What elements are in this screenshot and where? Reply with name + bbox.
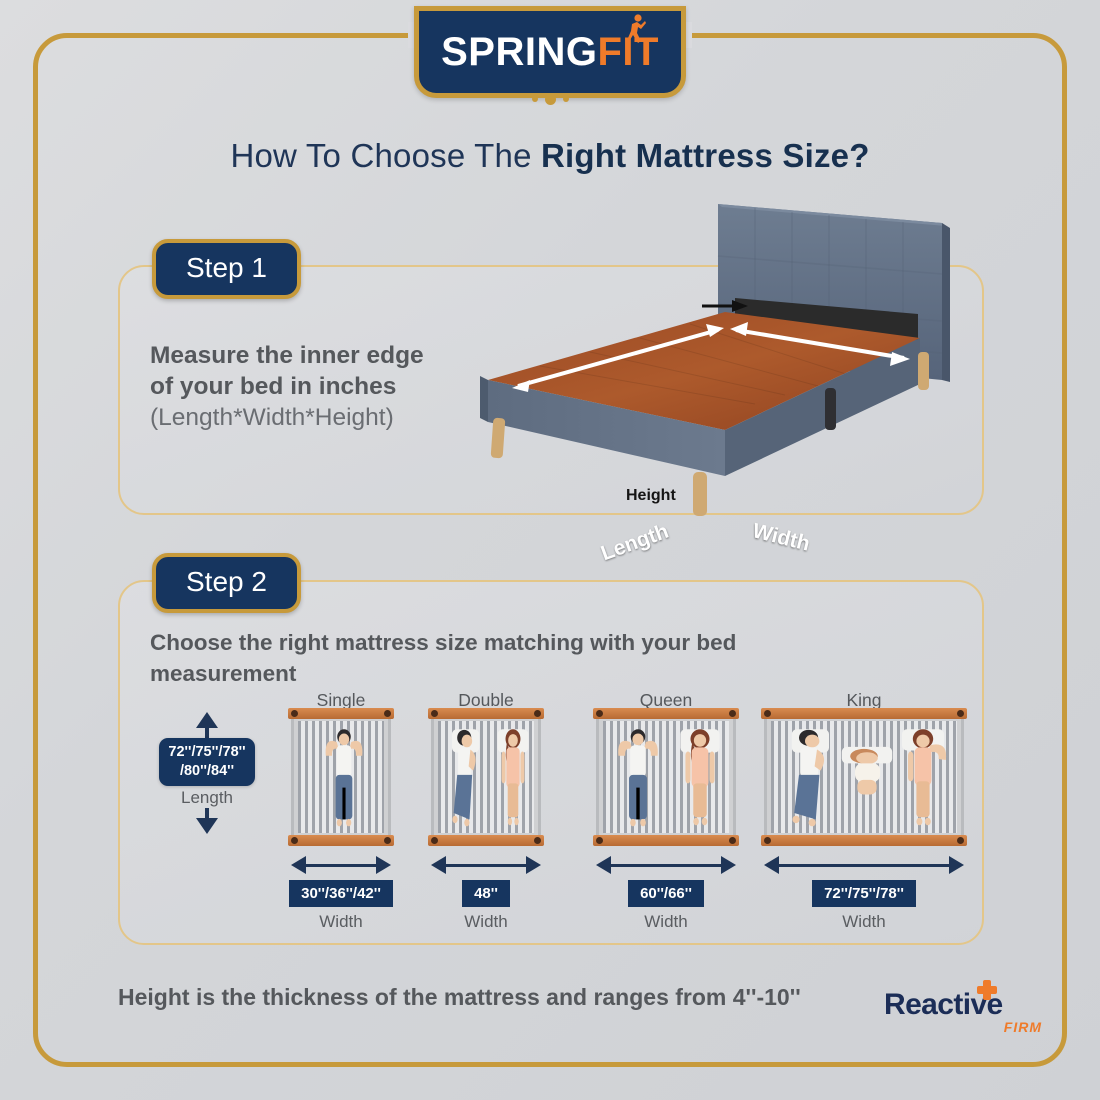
mattress-rail-top [593, 708, 739, 719]
arrow-left-icon [764, 856, 779, 874]
sleeper-figure [672, 724, 728, 835]
arrow-right-icon [526, 856, 541, 874]
arrow-stem [306, 864, 376, 867]
page-title: How To Choose The Right Mattress Size? [0, 137, 1100, 175]
mattress-rail-top [428, 708, 544, 719]
mattress-rail-bottom [593, 835, 739, 846]
reactive-word: Reactive [884, 990, 1044, 1020]
mattress-illustration [431, 717, 541, 837]
sleeper-figure [837, 739, 897, 810]
mattress-illustration [291, 717, 391, 837]
sleeper-figure [444, 724, 488, 835]
arrow-right-icon [949, 856, 964, 874]
step2-line1: Choose the right mattress size matching … [150, 627, 870, 658]
brand-logo-text: SPRING FIT [441, 30, 659, 75]
arrow-stem [779, 864, 949, 867]
arrow-right-icon [721, 856, 736, 874]
mattress-illustration [764, 717, 964, 837]
arrow-stem-top [205, 728, 209, 738]
sleeper-figure [781, 724, 841, 835]
width-arrow [596, 856, 736, 874]
width-arrow [764, 856, 964, 874]
width-value-badge: 30''/36''/42'' [289, 880, 393, 907]
step1-line3: (Length*Width*Height) [150, 402, 480, 433]
bed-svg [480, 190, 980, 540]
mattress-column-double: Double [431, 690, 541, 837]
bed-label-height: Height [626, 487, 676, 505]
step2-instruction: Choose the right mattress size matching … [150, 627, 870, 689]
width-arrow [431, 856, 541, 874]
mattress-column-queen: Queen [596, 690, 736, 837]
running-person-icon [627, 14, 646, 44]
arrow-up-icon [196, 712, 218, 728]
width-indicator-double: 48''Width [431, 856, 541, 932]
mattress-column-king: King [764, 690, 964, 837]
infographic-page: SPRING FIT How To Choose The Right Mattr… [0, 0, 1100, 1100]
mattress-rail-top [288, 708, 394, 719]
width-indicator-queen: 60''/66''Width [596, 856, 736, 932]
sleeper-figure [893, 724, 953, 835]
width-value-badge: 48'' [462, 880, 510, 907]
width-indicator-king: 72''/75''/78''Width [764, 856, 964, 932]
logo-fit-word: FIT [597, 30, 658, 75]
width-value-badge: 60''/66'' [628, 880, 704, 907]
width-indicator-single: 30''/36''/42''Width [291, 856, 391, 932]
step1-line2: of your bed in inches [150, 371, 480, 402]
step1-instruction: Measure the inner edge of your bed in in… [150, 340, 480, 433]
mattress-illustration [596, 717, 736, 837]
sleeper-figure [318, 724, 370, 835]
arrow-right-icon [376, 856, 391, 874]
decorative-dots [486, 92, 614, 106]
width-value-badge: 72''/75''/78'' [812, 880, 916, 907]
mattress-column-single: Single [291, 690, 391, 837]
width-label: Width [842, 912, 885, 932]
logo-spring-word: SPRING [441, 30, 597, 75]
arrow-stem [611, 864, 721, 867]
width-label: Width [464, 912, 507, 932]
sleeper-figure [610, 724, 666, 835]
page-title-bold: Right Mattress Size? [541, 137, 870, 174]
page-title-light: How To Choose The [230, 137, 541, 174]
width-arrow [291, 856, 391, 874]
mattress-rail-bottom [761, 835, 967, 846]
step2-badge: Step 2 [152, 553, 301, 613]
arrow-down-icon [196, 818, 218, 834]
arrow-left-icon [431, 856, 446, 874]
width-label: Width [319, 912, 362, 932]
reactive-firm-logo: Reactive FIRM [884, 990, 1044, 1042]
firm-word: FIRM [1004, 1019, 1042, 1035]
arrow-stem-bottom [205, 808, 209, 818]
step1-badge: Step 1 [152, 239, 301, 299]
mattress-rail-bottom [288, 835, 394, 846]
arrow-stem [446, 864, 526, 867]
length-value-badge: 72''/75''/78'' /80''/84'' [159, 738, 254, 786]
sleeper-figure [491, 724, 535, 835]
step1-line1: Measure the inner edge [150, 340, 480, 371]
brand-logo-box: SPRING FIT [414, 6, 686, 98]
bed-illustration: Height Length Width [480, 190, 980, 540]
step2-line2: measurement [150, 658, 870, 689]
mattress-rail-bottom [428, 835, 544, 846]
mattress-rail-top [761, 708, 967, 719]
width-label: Width [644, 912, 687, 932]
arrow-left-icon [596, 856, 611, 874]
length-label: Length [181, 788, 233, 808]
arrow-left-icon [291, 856, 306, 874]
footer-note: Height is the thickness of the mattress … [118, 984, 858, 1011]
medical-cross-icon [977, 980, 997, 1000]
length-indicator: 72''/75''/78'' /80''/84'' Length [152, 712, 262, 862]
